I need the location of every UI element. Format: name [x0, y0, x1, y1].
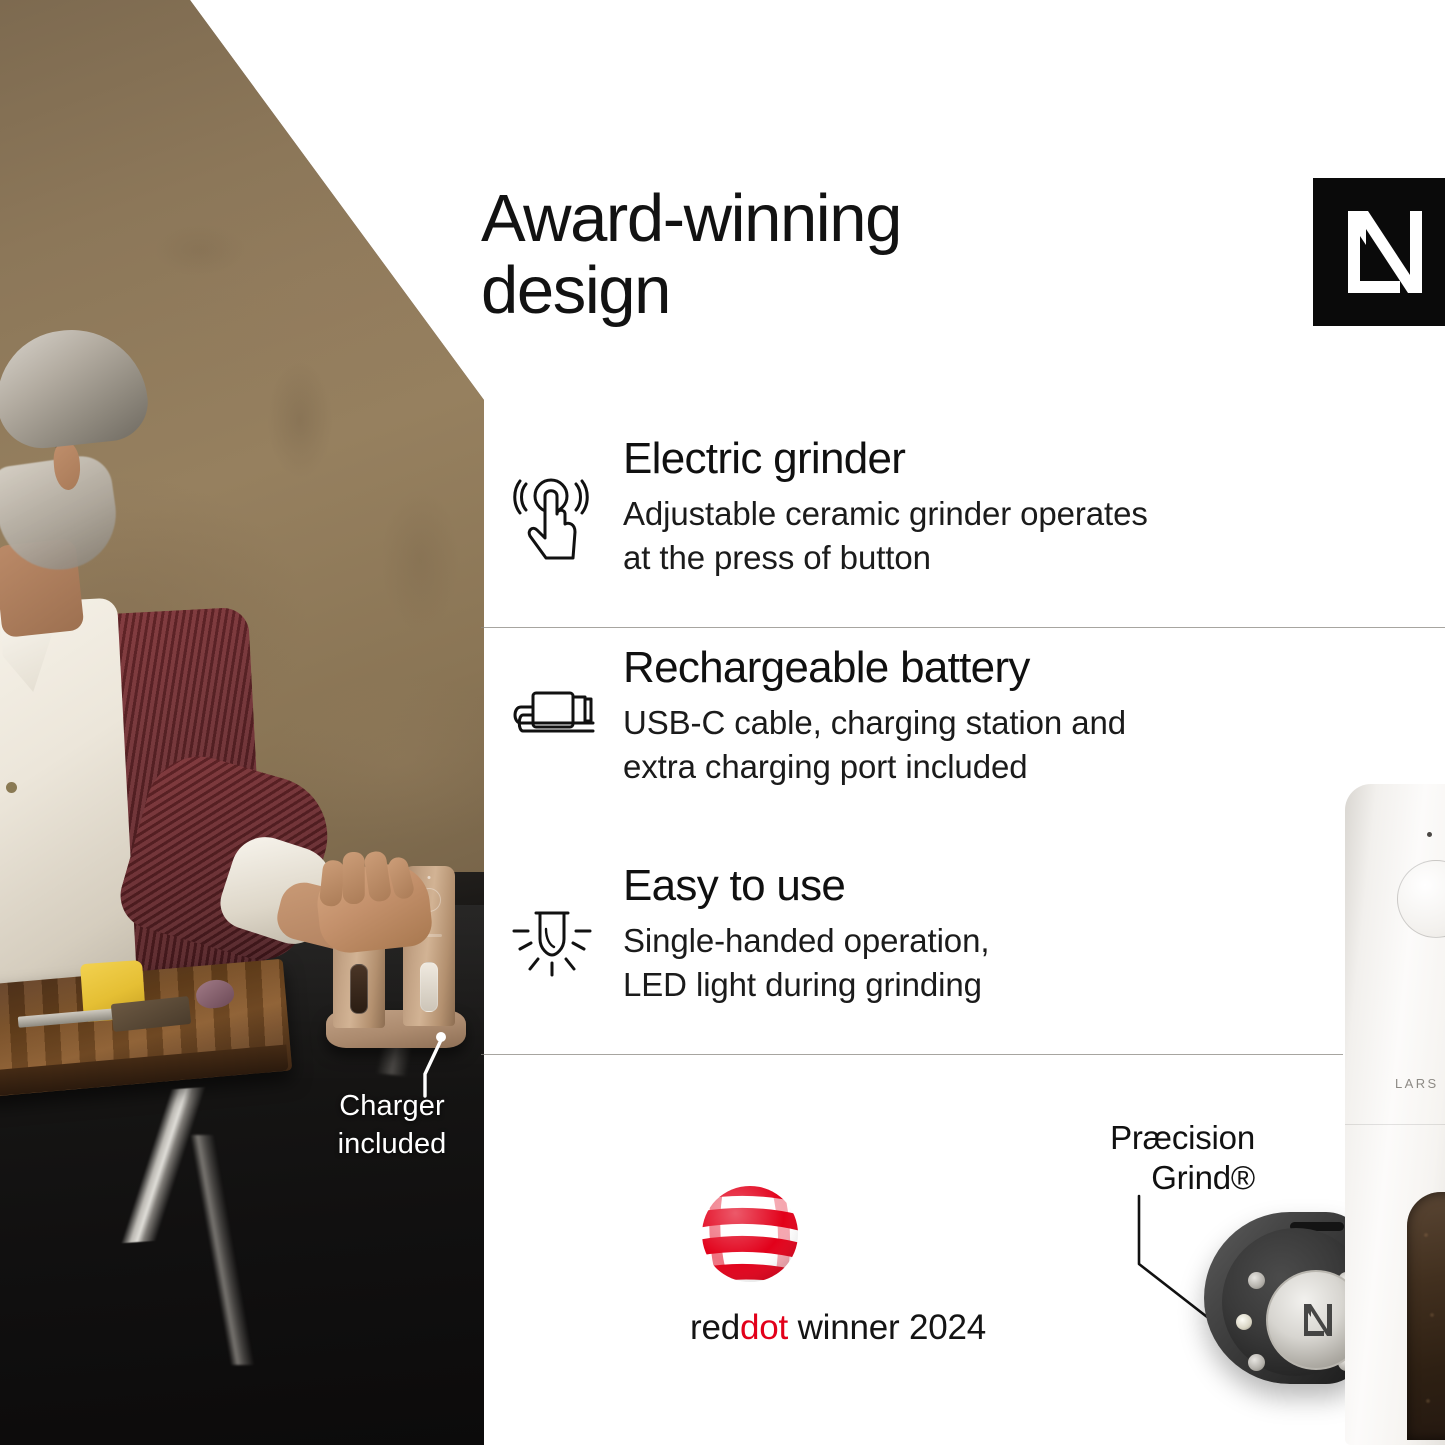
feature-text: Rechargeable battery USB-C cable, chargi… [623, 627, 1445, 788]
award-text-red: red [690, 1308, 740, 1347]
shirt-button [6, 782, 17, 793]
charger-callout-line2: included [312, 1126, 472, 1164]
page-title: Award-winning design [481, 183, 1101, 326]
feature-desc-line1: USB-C cable, charging station and [623, 701, 1445, 745]
precision-callout-line2: Grind® [1040, 1158, 1255, 1198]
feature-icon-wrap [481, 627, 623, 757]
feature-description: USB-C cable, charging station and extra … [623, 701, 1445, 788]
tap-press-icon [513, 476, 591, 560]
grinder-peppercorn-window [1407, 1192, 1445, 1440]
led-indicator [1236, 1314, 1252, 1330]
grinder-wordmark: LARS NYS [1395, 1076, 1445, 1091]
hand [314, 860, 434, 955]
led-light-icon [510, 903, 594, 985]
reddot-award-text: reddot winner 2024 [690, 1308, 1030, 1348]
grinder-led [1427, 832, 1432, 837]
product-white-grinder: LARS NYS [1345, 784, 1445, 1445]
precision-callout-line1: Præcision [1040, 1118, 1255, 1158]
feature-electric-grinder: Electric grinder Adjustable ceramic grin… [481, 418, 1445, 627]
feature-rechargeable-battery: Rechargeable battery USB-C cable, chargi… [481, 627, 1445, 845]
screw [1248, 1354, 1265, 1371]
feature-description: Single-handed operation, LED light durin… [623, 919, 1445, 1006]
charger-callout-line1: Charger [312, 1088, 472, 1126]
feature-text: Electric grinder Adjustable ceramic grin… [623, 418, 1445, 579]
feature-title: Easy to use [623, 861, 1445, 910]
feature-desc-line1: Adjustable ceramic grinder operates [623, 492, 1445, 536]
feature-desc-line1: Single-handed operation, [623, 919, 1445, 963]
grinder-base-body [1204, 1212, 1366, 1384]
lifestyle-photo: Charger included [0, 0, 484, 1445]
grinder-window [350, 964, 368, 1014]
charger-included-callout: Charger included [312, 1088, 472, 1163]
feature-icon-wrap [481, 418, 623, 560]
ln-monogram-icon [1299, 1301, 1333, 1339]
usb-c-charging-cable-icon [509, 685, 595, 757]
product-grinder-base [1176, 1208, 1366, 1388]
marble-vein [120, 1135, 320, 1365]
finger [319, 859, 346, 907]
feature-desc-line2: extra charging port included [623, 745, 1445, 789]
feature-list: Electric grinder Adjustable ceramic grin… [481, 418, 1445, 1060]
feature-easy-to-use: Easy to use Single-handed operation, LED… [481, 845, 1445, 1060]
grinder-seam [1345, 1124, 1445, 1125]
grinder-led [428, 876, 431, 879]
headline-line-2: design [481, 255, 1101, 327]
ln-monogram-icon [1338, 205, 1422, 299]
brand-logo [1313, 178, 1445, 326]
award-text-dot: dot [740, 1308, 788, 1347]
precision-grind-callout: Præcision Grind® [1040, 1118, 1255, 1199]
finger [343, 852, 365, 904]
award-text-rest: winner 2024 [788, 1308, 986, 1347]
gray-hair [0, 322, 152, 452]
feature-desc-line2: at the press of button [623, 536, 1445, 580]
feature-description: Adjustable ceramic grinder operates at t… [623, 492, 1445, 579]
grinder-window [420, 962, 438, 1012]
reddot-award-badge: reddot winner 2024 [690, 1182, 1030, 1348]
screw [1248, 1272, 1265, 1289]
feature-desc-line2: LED light during grinding [623, 963, 1445, 1007]
feature-text: Easy to use Single-handed operation, LED… [623, 845, 1445, 1006]
feature-title: Electric grinder [623, 434, 1445, 483]
reddot-sphere-icon [698, 1182, 802, 1286]
feature-icon-wrap [481, 845, 623, 985]
reddot-sphere-logo [698, 1182, 802, 1286]
headline-line-1: Award-winning [481, 183, 1101, 255]
marketing-image: Charger included Award-winning design [0, 0, 1445, 1445]
person-in-kitchen [0, 330, 288, 1030]
feature-title: Rechargeable battery [623, 643, 1445, 692]
